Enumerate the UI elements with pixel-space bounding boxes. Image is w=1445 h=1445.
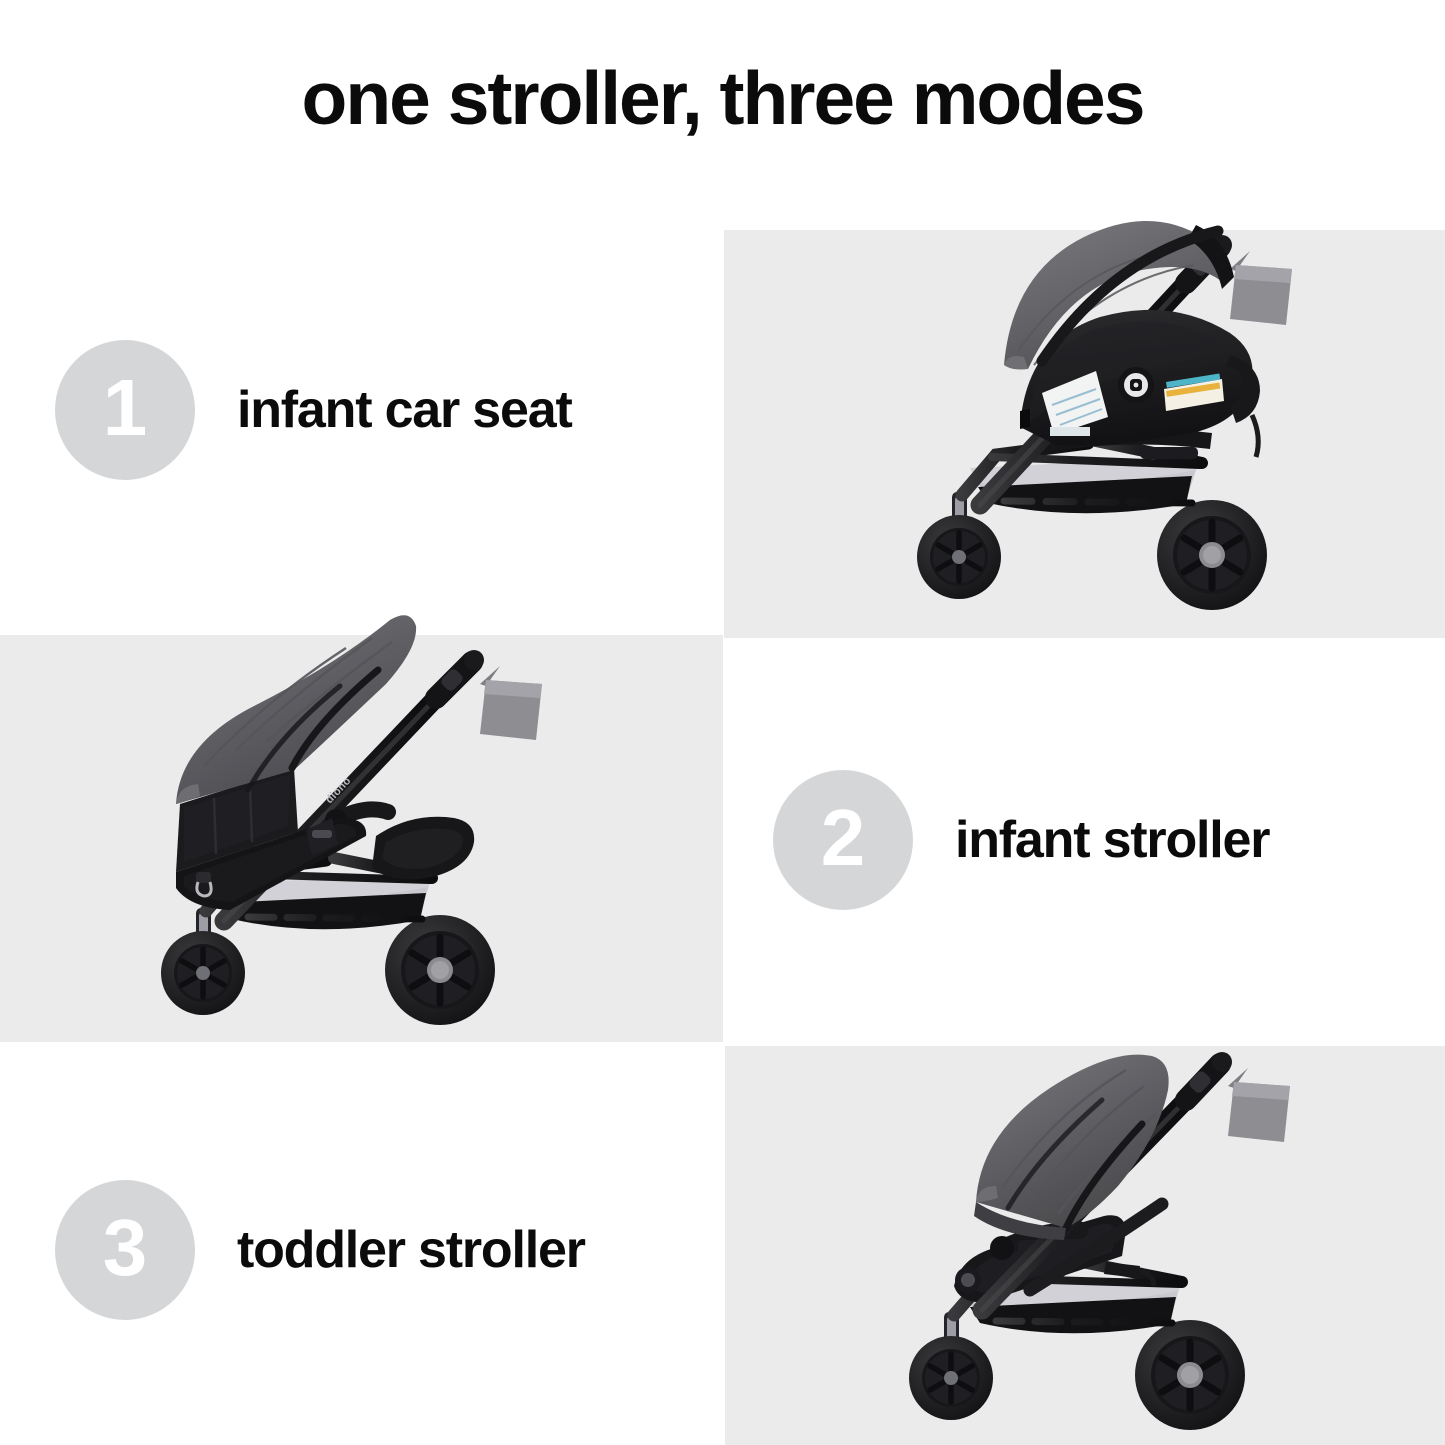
product-image-toddler-stroller: diono [890,990,1310,1445]
step-label-2: infant stroller [955,810,1269,870]
step-infant-car-seat: 1 infant car seat [55,340,572,480]
step-badge-3: 3 [55,1180,195,1320]
step-toddler-stroller: 3 toddler stroller [55,1180,585,1320]
step-label-3: toddler stroller [237,1220,585,1280]
cup-holder [480,666,542,740]
rear-wheel [1157,500,1267,610]
product-image-infant-stroller: diono [140,590,570,1045]
infant-car-seat-shell [1004,221,1260,457]
canopy [176,615,416,804]
infographic-page: one stroller, three modes [0,0,1445,1445]
cup-holder [1228,1068,1290,1142]
step-badge-2: 2 [773,770,913,910]
cup-holder [1230,251,1292,325]
step-badge-1: 1 [55,340,195,480]
step-label-1: infant car seat [237,380,572,440]
rear-wheel [1135,1320,1245,1430]
product-image-infant-car-seat: diono [900,165,1320,635]
step-infant-stroller: 2 infant stroller [773,770,1269,910]
page-title: one stroller, three modes [0,61,1445,136]
front-wheel [909,1312,993,1420]
rear-wheel [385,915,495,1025]
